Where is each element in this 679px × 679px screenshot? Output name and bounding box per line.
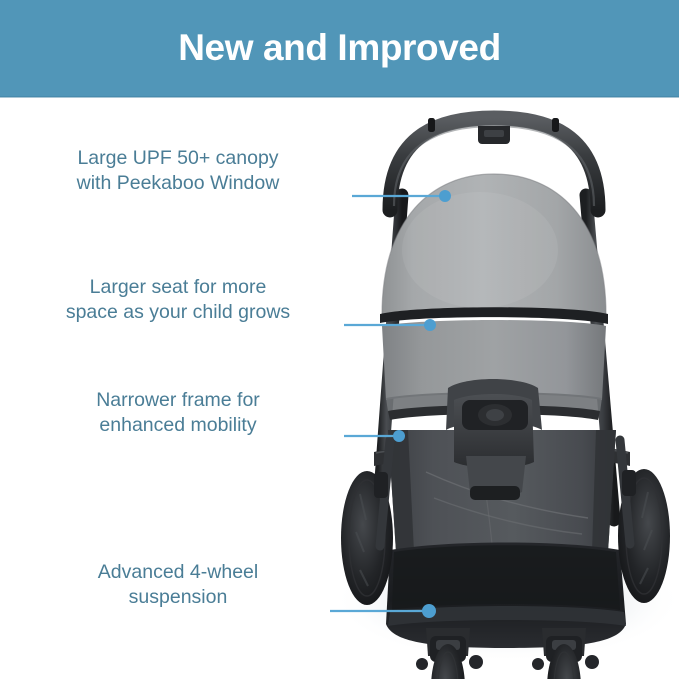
infographic-page: New and Improved <box>0 0 679 679</box>
page-title: New and Improved <box>178 29 501 66</box>
header-divider <box>0 96 679 98</box>
callout-frame: Narrower frame for enhanced mobility <box>28 388 328 438</box>
product-image-stroller <box>330 100 679 679</box>
basket-footrest <box>386 543 626 649</box>
handlebar-ring-right <box>552 118 559 132</box>
handlebar-ring-left <box>428 118 435 132</box>
callout-canopy: Large UPF 50+ canopy with Peekaboo Windo… <box>28 146 328 196</box>
peekaboo-window <box>402 192 558 308</box>
callout-seat: Larger seat for more space as your child… <box>28 275 328 325</box>
header-banner: New and Improved <box>0 0 679 97</box>
callout-suspension: Advanced 4-wheel suspension <box>28 560 328 610</box>
